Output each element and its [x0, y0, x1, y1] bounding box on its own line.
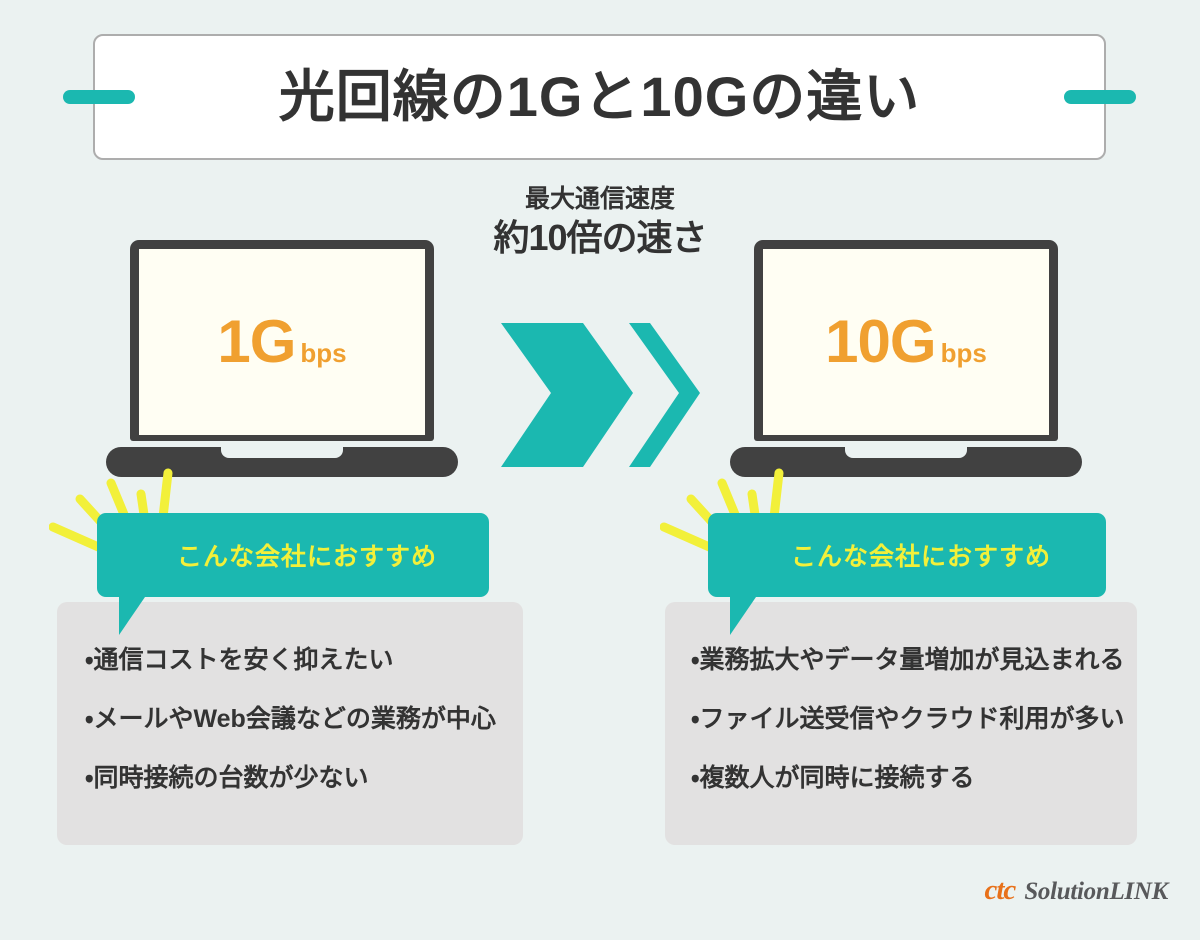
recommendation-bubble-label: こんな会社におすすめ — [149, 537, 437, 573]
list-item: ・業務拡大やデータ量増加が見込まれる — [691, 648, 1119, 673]
laptop-notch — [845, 447, 967, 458]
speed-arrows-icon — [495, 315, 710, 475]
laptop-base — [106, 447, 458, 477]
logo-ctc-mark: ctc — [985, 874, 1016, 907]
laptop-screen-frame: 10G bps — [754, 240, 1058, 441]
speed-value: 1G — [217, 312, 295, 372]
list-item: ・通信コストを安く抑えたい — [85, 648, 511, 673]
speed-unit: bps — [941, 340, 987, 366]
laptop-notch — [221, 447, 343, 458]
recommendation-list: ・業務拡大やデータ量増加が見込まれる ・ファイル送受信やクラウド利用が多い ・複… — [691, 648, 1119, 791]
logo-wordmark: SolutionLINK — [1024, 878, 1168, 906]
laptop-screen-frame: 1G bps — [130, 240, 434, 441]
list-item: ・複数人が同時に接続する — [691, 766, 1119, 791]
title-accent-left-icon — [63, 90, 135, 104]
speed-value: 10G — [825, 312, 935, 372]
speed-label-10g: 10G bps — [825, 312, 987, 372]
title-accent-right-icon — [1064, 90, 1136, 104]
speed-headline: 約10倍の速さ — [470, 216, 730, 259]
recommendation-bubble: こんな会社におすすめ — [97, 513, 489, 597]
title-banner: 光回線の1Gと10Gの違い — [0, 0, 1200, 180]
laptop-base — [730, 447, 1082, 477]
recommendation-bubble-wrap: こんな会社におすすめ — [97, 513, 489, 597]
title-box: 光回線の1Gと10Gの違い — [93, 34, 1106, 160]
list-item: ・メールやWeb会議などの業務が中心 — [85, 707, 511, 732]
page-title: 光回線の1Gと10Gの違い — [279, 69, 921, 125]
bubble-tail — [730, 597, 756, 635]
list-item: ・ファイル送受信やクラウド利用が多い — [691, 707, 1119, 732]
recommendation-bubble-wrap: こんな会社におすすめ — [708, 513, 1106, 597]
recommendation-bubble: こんな会社におすすめ — [708, 513, 1106, 597]
laptop-10g-illustration: 10G bps — [730, 240, 1082, 477]
brand-logo: ctc SolutionLINK — [985, 874, 1169, 907]
recommendation-list: ・通信コストを安く抑えたい ・メールやWeb会議などの業務が中心 ・同時接続の台… — [85, 648, 511, 791]
speed-unit: bps — [300, 340, 346, 366]
speed-caption: 最大通信速度 — [470, 185, 730, 214]
laptop-1g-illustration: 1G bps — [106, 240, 458, 477]
laptop-screen: 1G bps — [139, 249, 425, 435]
speed-comparison-section: 1G bps 10G bps 最大通信速度 約10倍の速さ — [0, 185, 1200, 485]
recommendation-bubble-label: こんな会社におすすめ — [763, 537, 1051, 573]
speed-callout: 最大通信速度 約10倍の速さ — [470, 185, 730, 259]
bubble-tail — [119, 597, 145, 635]
speed-label-1g: 1G bps — [217, 312, 346, 372]
list-item: ・同時接続の台数が少ない — [85, 766, 511, 791]
laptop-screen: 10G bps — [763, 249, 1049, 435]
